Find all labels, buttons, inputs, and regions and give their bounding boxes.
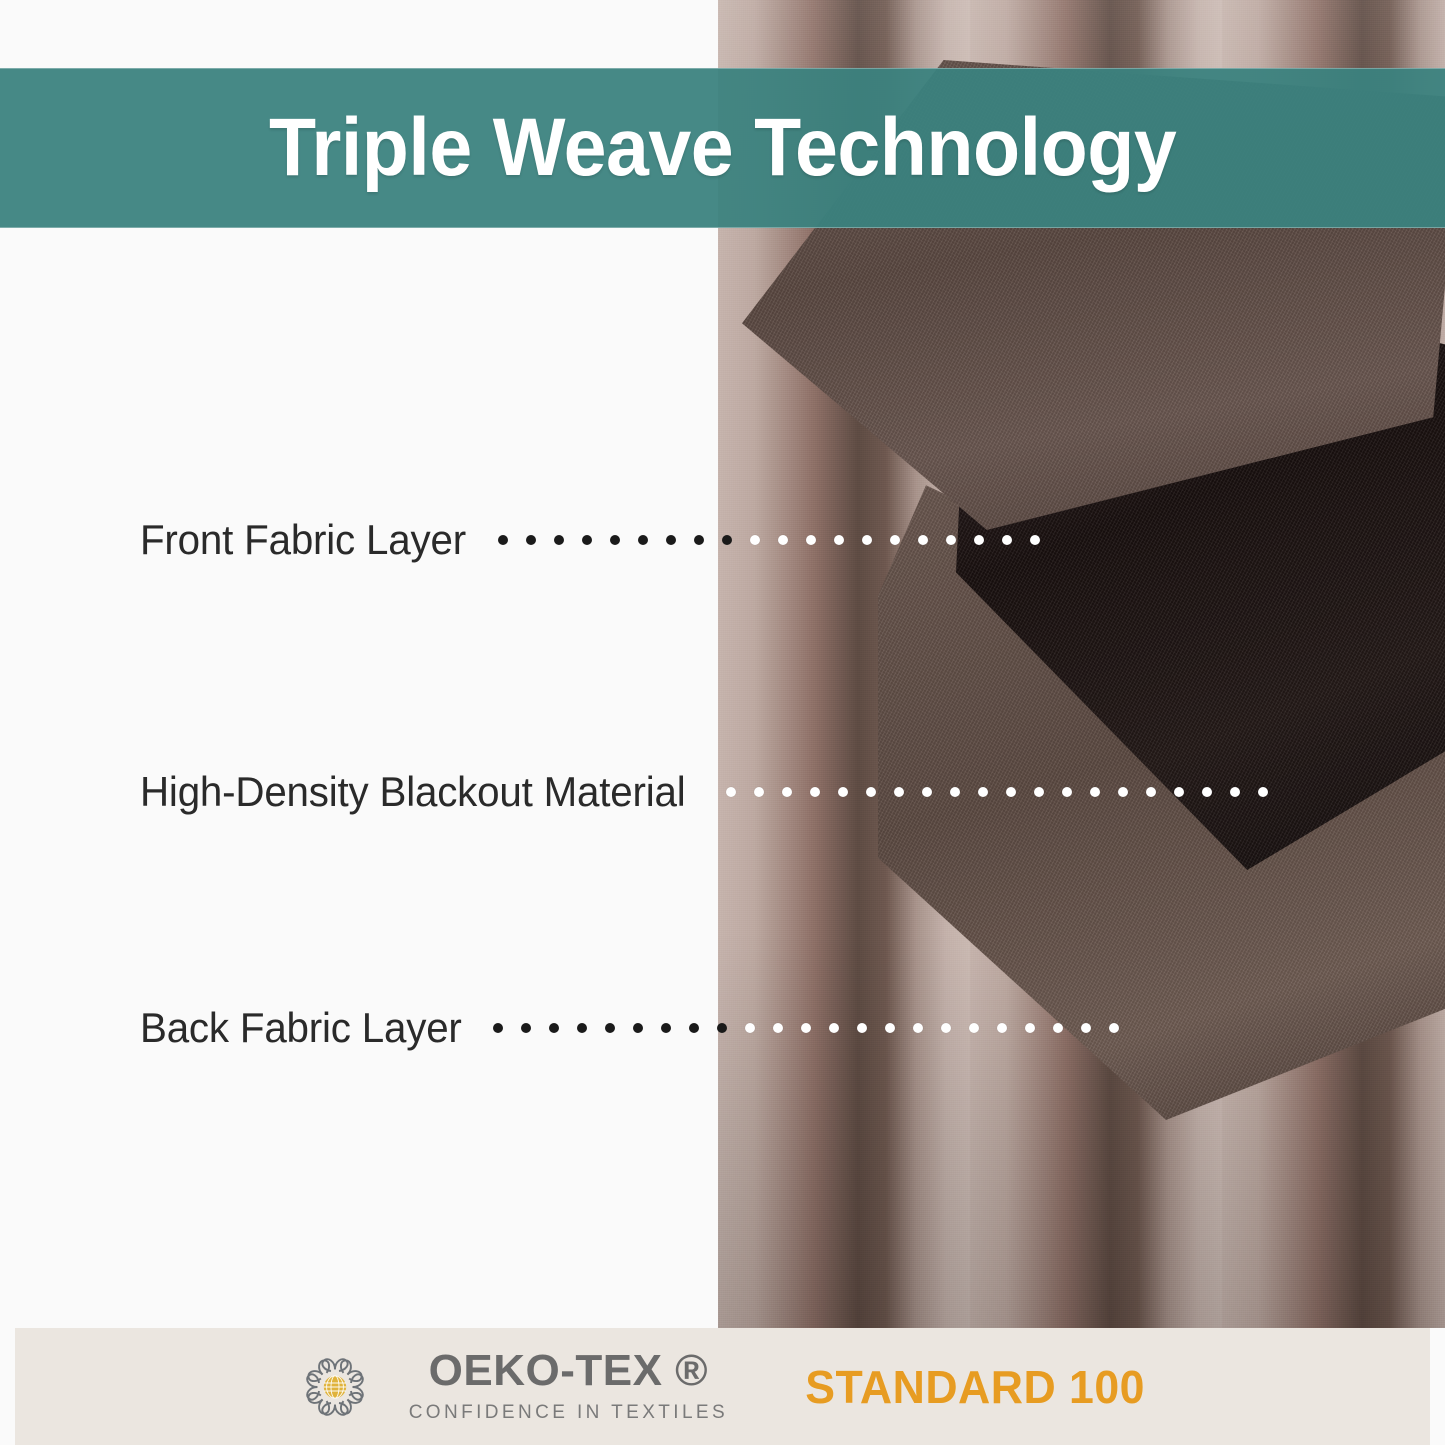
leader-dot <box>857 1023 867 1033</box>
leader-dot <box>913 1023 923 1033</box>
leader-dot <box>605 1023 615 1033</box>
leader-dot <box>745 1023 755 1033</box>
certification-footer: OEKO-TEX ® CONFIDENCE IN TEXTILES STANDA… <box>15 1328 1430 1445</box>
leader-dot <box>638 535 648 545</box>
leader-dot <box>810 787 820 797</box>
leader-dot <box>1034 787 1044 797</box>
leader-dot <box>1118 787 1128 797</box>
leader-dot <box>726 787 736 797</box>
leader-dot <box>890 535 900 545</box>
leader-dot <box>1174 787 1184 797</box>
leader-dot <box>633 1023 643 1033</box>
leader-dot <box>722 535 732 545</box>
leader-dot <box>778 535 788 545</box>
leader-dot <box>946 535 956 545</box>
leader-dot <box>1006 787 1016 797</box>
leader-dot <box>782 787 792 797</box>
leader-dot <box>1002 535 1012 545</box>
leader-dot <box>554 535 564 545</box>
leader-dot <box>1030 535 1040 545</box>
oeko-tex-wordmark: OEKO-TEX ® CONFIDENCE IN TEXTILES <box>409 1349 728 1424</box>
leader-dot <box>922 787 932 797</box>
leader-dot <box>694 535 704 545</box>
leader-dot <box>521 1023 531 1033</box>
leader-dot <box>750 535 760 545</box>
leader-dot <box>549 1023 559 1033</box>
leader-dot <box>1053 1023 1063 1033</box>
leader-dot <box>829 1023 839 1033</box>
leader-dot <box>885 1023 895 1033</box>
callout-back-fabric-layer: Back Fabric Layer <box>140 998 1137 1058</box>
leader-dot <box>806 535 816 545</box>
leader-dot <box>582 535 592 545</box>
leader-dot <box>1202 787 1212 797</box>
leader-dot <box>666 535 676 545</box>
leader-dot <box>661 1023 671 1033</box>
leader-dot <box>1062 787 1072 797</box>
leader-dot <box>974 535 984 545</box>
certification-subtitle: CONFIDENCE IN TEXTILES <box>409 1402 728 1424</box>
leader-dot <box>1258 787 1268 797</box>
leader-dot <box>526 535 536 545</box>
oeko-tex-logo-icon <box>295 1347 375 1427</box>
leader-dot <box>754 787 764 797</box>
leader-dot <box>577 1023 587 1033</box>
standard-100-label: STANDARD 100 <box>805 1360 1145 1414</box>
leader-dot <box>1230 787 1240 797</box>
callout-blackout-material: High-Density Blackout Material <box>140 762 1286 822</box>
leader-dot <box>717 1023 727 1033</box>
leader-dot <box>498 535 508 545</box>
leader-dot <box>1109 1023 1119 1033</box>
leader-dot <box>866 787 876 797</box>
leader-dot <box>801 1023 811 1033</box>
callout-label: Back Fabric Layer <box>140 1004 462 1052</box>
leader-dot <box>950 787 960 797</box>
leader-dot <box>610 535 620 545</box>
leader-dot <box>997 1023 1007 1033</box>
leader-dot <box>773 1023 783 1033</box>
callout-label: High-Density Blackout Material <box>140 768 686 816</box>
leader-dot <box>493 1023 503 1033</box>
leader-dot <box>838 787 848 797</box>
infographic-canvas: Triple Weave Technology Front Fabric Lay… <box>0 0 1445 1445</box>
leader-dot <box>1081 1023 1091 1033</box>
leader-dot <box>894 787 904 797</box>
leader-dot <box>978 787 988 797</box>
leader-dots-front <box>498 535 1058 545</box>
globe-glyph <box>323 1375 345 1397</box>
leader-dots-back <box>493 1023 1137 1033</box>
oeko-tex-certification: OEKO-TEX ® CONFIDENCE IN TEXTILES <box>295 1347 728 1427</box>
leader-dot <box>1025 1023 1035 1033</box>
leader-dot <box>862 535 872 545</box>
callout-front-fabric-layer: Front Fabric Layer <box>140 510 1058 570</box>
leader-dot <box>689 1023 699 1033</box>
leader-dot <box>1146 787 1156 797</box>
leader-dot <box>969 1023 979 1033</box>
leader-dot <box>918 535 928 545</box>
callout-label: Front Fabric Layer <box>140 516 466 564</box>
leader-dot <box>1090 787 1100 797</box>
certification-title: OEKO-TEX ® <box>429 1349 708 1393</box>
leader-dot <box>834 535 844 545</box>
page-title: Triple Weave Technology <box>269 101 1176 195</box>
leader-dot <box>941 1023 951 1033</box>
title-banner: Triple Weave Technology <box>0 68 1445 228</box>
leader-dots-blackout <box>726 787 1286 797</box>
